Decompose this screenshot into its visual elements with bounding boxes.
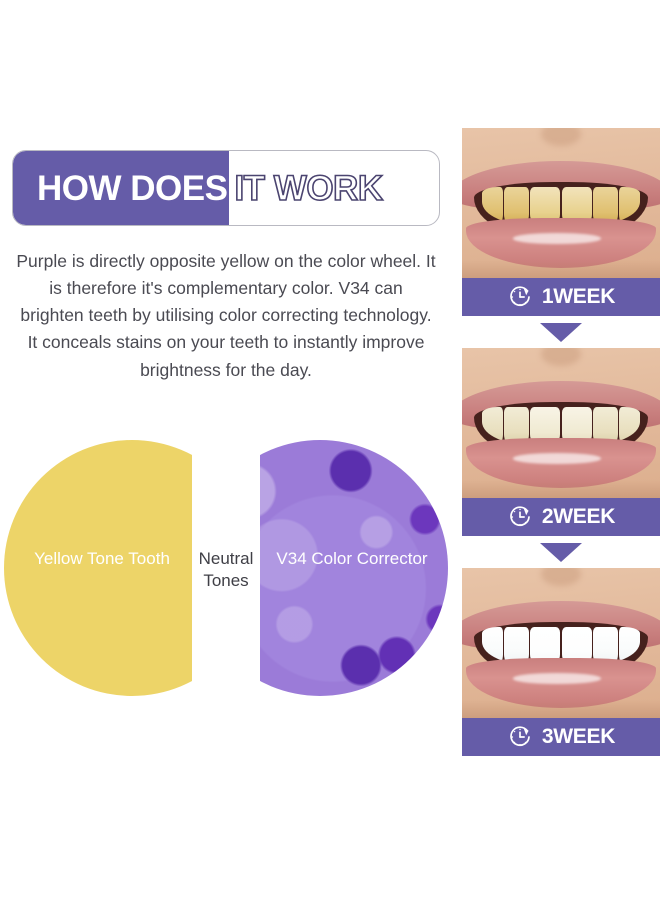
venn-diagram: Yellow Tone Tooth Neutral Tones V34 Colo… — [4, 440, 448, 696]
week-badge-1: 1WEEK — [462, 278, 660, 316]
page-title-part-two: IT WORK — [234, 171, 382, 206]
smile-photo-week-3 — [462, 568, 660, 718]
smile-photo-week-1 — [462, 128, 660, 278]
timeline-step-week-1: 1WEEK — [462, 128, 660, 348]
timeline-arrow-1 — [462, 316, 660, 348]
description-paragraph: Purple is directly opposite yellow on th… — [16, 248, 436, 384]
left-content-column: HOW DOES IT WORK Purple is directly oppo… — [0, 0, 452, 904]
clock-refresh-icon — [507, 504, 533, 530]
chevron-down-icon — [540, 323, 582, 342]
week-badge-2: 2WEEK — [462, 498, 660, 536]
week-badge-label: 3WEEK — [542, 725, 615, 749]
lip-highlight — [513, 453, 600, 464]
page-title-part-one: HOW DOES — [37, 171, 227, 206]
clock-refresh-icon — [507, 724, 533, 750]
page-title: HOW DOES IT WORK — [13, 151, 439, 225]
smile-photo-week-2 — [462, 348, 660, 498]
venn-label-neutral-tones: Neutral Tones — [186, 548, 266, 593]
chin-shadow — [462, 480, 660, 498]
venn-label-yellow-tone: Yellow Tone Tooth — [22, 548, 182, 570]
chin-shadow — [462, 700, 660, 718]
week-badge-label: 2WEEK — [542, 505, 615, 529]
venn-label-v34-corrector: V34 Color Corrector — [272, 548, 432, 570]
chin-shadow — [462, 260, 660, 278]
lip-highlight — [513, 233, 600, 244]
infographic-page: HOW DOES IT WORK Purple is directly oppo… — [0, 0, 660, 904]
lip-highlight — [513, 673, 600, 684]
timeline-step-week-3: 3WEEK — [462, 568, 660, 756]
timeline-column: 1WEEK — [462, 0, 660, 904]
chevron-down-icon — [540, 543, 582, 562]
timeline-arrow-2 — [462, 536, 660, 568]
timeline-step-week-2: 2WEEK — [462, 348, 660, 568]
week-badge-label: 1WEEK — [542, 285, 615, 309]
week-badge-3: 3WEEK — [462, 718, 660, 756]
clock-refresh-icon — [507, 284, 533, 310]
section-title-card: HOW DOES IT WORK — [12, 150, 440, 226]
